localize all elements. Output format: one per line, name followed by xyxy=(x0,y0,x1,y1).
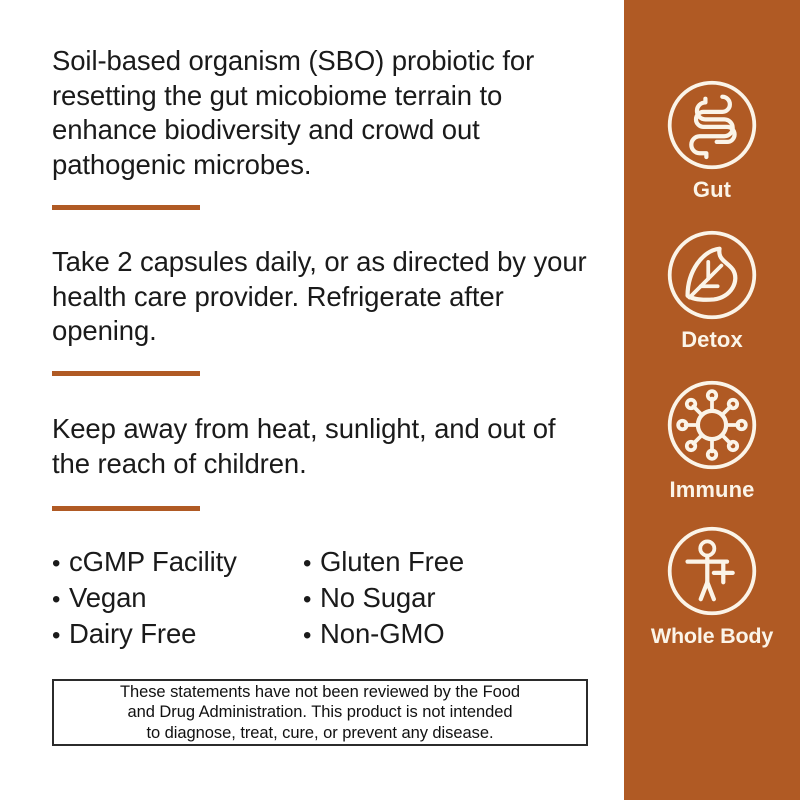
list-item: • Gluten Free xyxy=(303,544,553,580)
feature-label: Gluten Free xyxy=(320,544,464,580)
dosage-paragraph: Take 2 capsules daily, or as directed by… xyxy=(52,245,592,349)
accent-divider-1 xyxy=(52,205,200,210)
benefit-immune: Immune xyxy=(624,378,800,503)
bullet-icon: • xyxy=(303,582,320,618)
feature-column-right: • Gluten Free • No Sugar • Non-GMO xyxy=(303,544,553,652)
accent-divider-3 xyxy=(52,506,200,511)
benefit-label: Immune xyxy=(624,477,800,503)
feature-label: Non-GMO xyxy=(320,616,445,652)
benefit-label: Detox xyxy=(624,327,800,353)
bullet-icon: • xyxy=(52,618,69,654)
list-item: • No Sugar xyxy=(303,580,553,616)
description-paragraph: Soil-based organism (SBO) probiotic for … xyxy=(52,44,592,182)
list-item: • cGMP Facility xyxy=(52,544,302,580)
virus-cell-icon xyxy=(665,378,759,472)
content-column: Soil-based organism (SBO) probiotic for … xyxy=(0,0,624,800)
human-body-plus-icon xyxy=(665,524,759,618)
benefit-gut: Gut xyxy=(624,78,800,203)
bullet-icon: • xyxy=(52,582,69,618)
feature-label: No Sugar xyxy=(320,580,435,616)
feature-label: cGMP Facility xyxy=(69,544,237,580)
benefit-label: Gut xyxy=(624,177,800,203)
bullet-icon: • xyxy=(52,546,69,582)
bullet-icon: • xyxy=(303,546,320,582)
feature-column-left: • cGMP Facility • Vegan • Dairy Free xyxy=(52,544,302,652)
benefit-whole-body: Whole Body xyxy=(624,524,800,649)
feature-label: Vegan xyxy=(69,580,147,616)
bullet-icon: • xyxy=(303,618,320,654)
storage-warning-paragraph: Keep away from heat, sunlight, and out o… xyxy=(52,412,592,481)
accent-divider-2 xyxy=(52,371,200,376)
intestine-icon xyxy=(665,78,759,172)
supplement-label-panel: Soil-based organism (SBO) probiotic for … xyxy=(0,0,800,800)
benefits-sidebar: Gut Detox xyxy=(624,0,800,800)
list-item: • Vegan xyxy=(52,580,302,616)
list-item: • Non-GMO xyxy=(303,616,553,652)
feature-label: Dairy Free xyxy=(69,616,196,652)
list-item: • Dairy Free xyxy=(52,616,302,652)
benefit-detox: Detox xyxy=(624,228,800,353)
fda-disclaimer-box: These statements have not been reviewed … xyxy=(52,679,588,746)
leaf-icon xyxy=(665,228,759,322)
fda-disclaimer-text: These statements have not been reviewed … xyxy=(112,682,528,744)
benefit-label: Whole Body xyxy=(624,623,800,649)
